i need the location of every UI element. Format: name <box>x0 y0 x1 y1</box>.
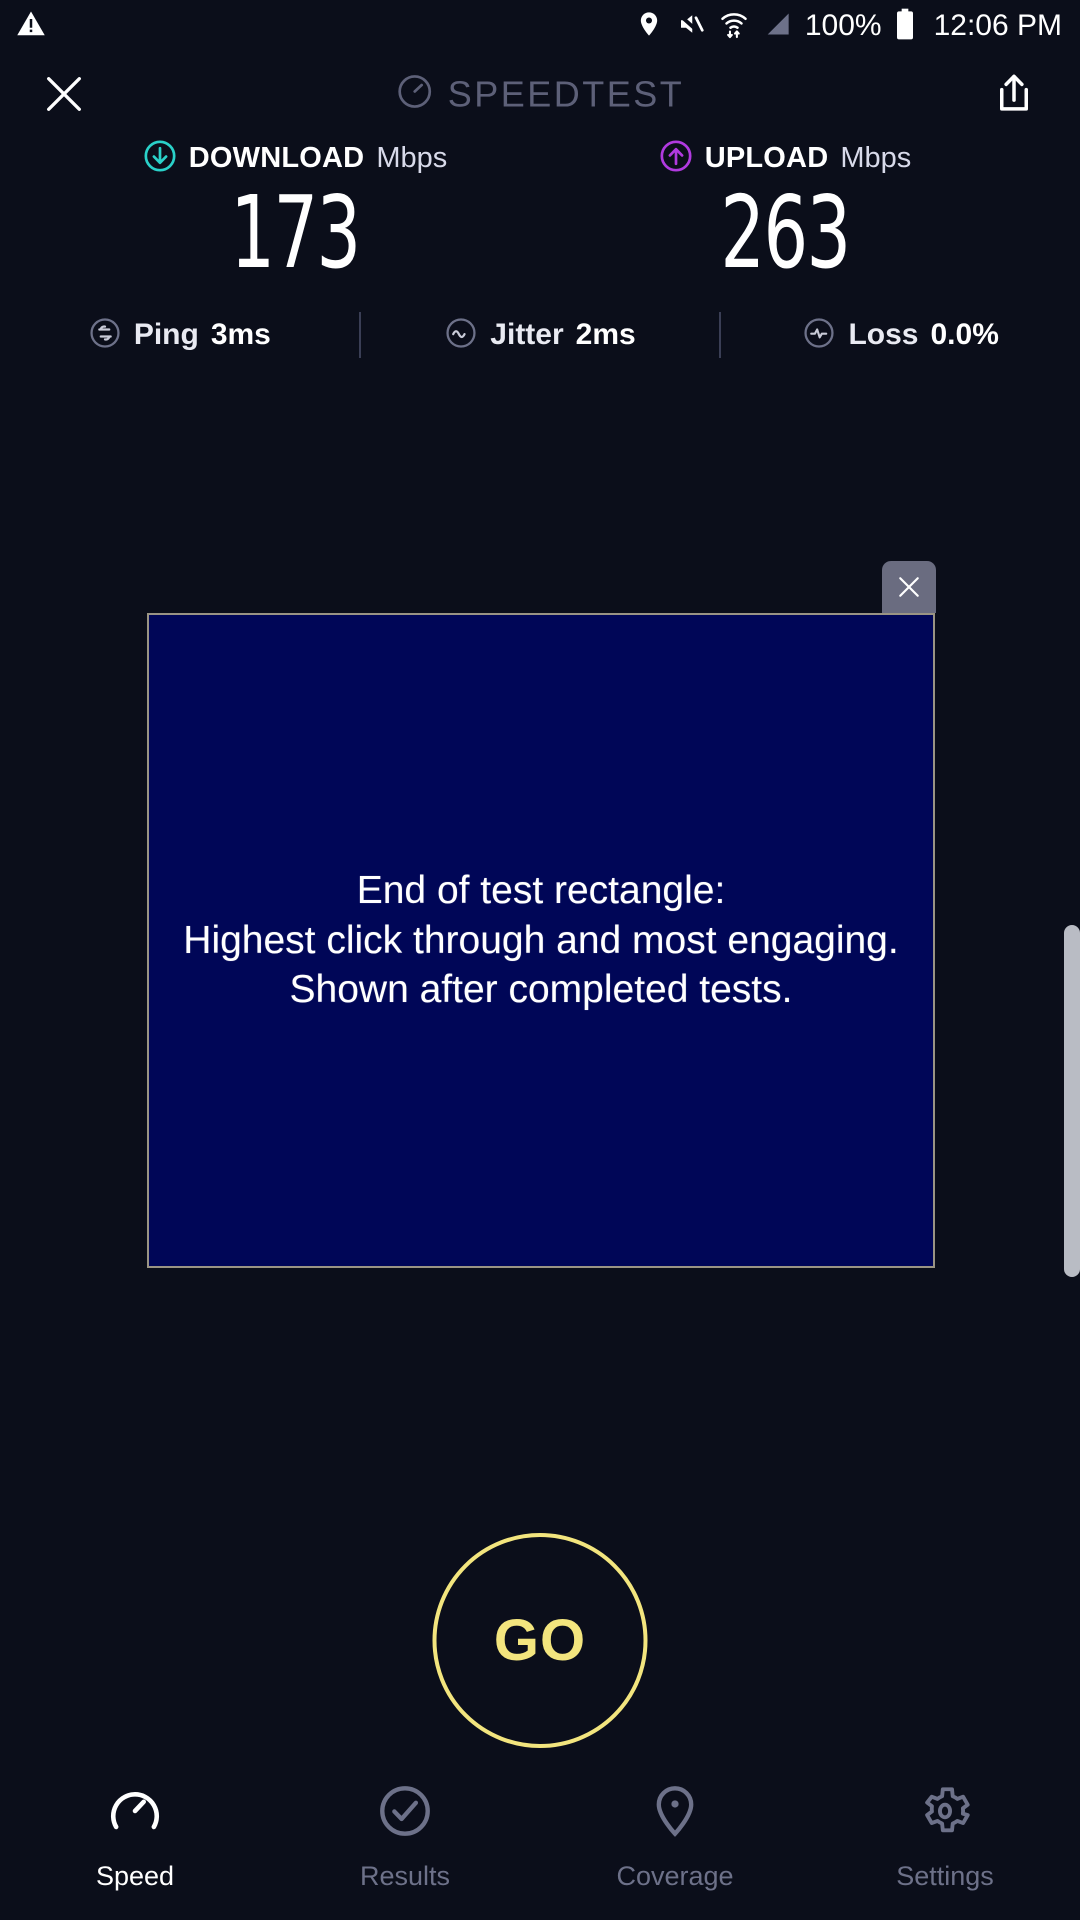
jitter-icon <box>444 316 478 355</box>
metric-jitter: Jitter 2ms <box>361 316 720 355</box>
speedometer-icon <box>396 73 434 116</box>
nav-label-speed: Speed <box>96 1861 174 1892</box>
nav-label-coverage: Coverage <box>616 1861 733 1892</box>
close-test-button[interactable] <box>36 66 92 122</box>
result-row: DOWNLOAD Mbps 173 UPLOAD Mbps 263 <box>0 136 1080 285</box>
speedometer-icon <box>106 1782 164 1845</box>
metric-loss: Loss 0.0% <box>721 316 1080 355</box>
share-button[interactable] <box>986 66 1042 122</box>
gear-icon <box>916 1782 974 1845</box>
download-result: DOWNLOAD Mbps 173 <box>105 136 485 285</box>
nav-label-settings: Settings <box>896 1861 994 1892</box>
cellular-signal-icon <box>762 10 792 43</box>
status-bar-left <box>16 9 46 44</box>
upload-result: UPLOAD Mbps 263 <box>595 136 975 285</box>
metric-ping: Ping 3ms <box>0 316 359 355</box>
page-title: SPEEDTEST <box>448 73 685 115</box>
map-pin-icon <box>646 1782 704 1845</box>
nav-item-results[interactable]: Results <box>270 1782 540 1892</box>
upload-arrow-icon <box>659 139 693 178</box>
result-summary: DOWNLOAD Mbps 173 UPLOAD Mbps 263 <box>0 136 1080 285</box>
ping-value: 3ms <box>211 318 271 352</box>
advertisement-banner[interactable]: End of test rectangle: Highest click thr… <box>147 613 935 1268</box>
ad-line-3: Shown after completed tests. <box>183 965 898 1015</box>
download-value: 173 <box>147 180 443 285</box>
nav-item-speed[interactable]: Speed <box>0 1782 270 1892</box>
upload-unit: Mbps <box>840 142 911 175</box>
status-bar-right: 100% 12:06 PM <box>635 8 1062 45</box>
status-bar: 100% 12:06 PM <box>0 0 1080 52</box>
bottom-navigation: Speed Results Coverage <box>0 1772 1080 1920</box>
loss-label: Loss <box>848 318 918 352</box>
app-header: SPEEDTEST <box>0 52 1080 136</box>
loss-icon <box>802 316 836 355</box>
battery-percent-label: 100% <box>805 9 882 43</box>
jitter-value: 2ms <box>576 318 636 352</box>
wifi-icon <box>719 9 749 44</box>
upload-value: 263 <box>637 180 933 285</box>
mute-icon <box>676 9 706 44</box>
connection-metrics: Ping 3ms Jitter 2ms Loss 0.0 <box>0 300 1080 370</box>
battery-full-icon <box>895 8 915 45</box>
status-bar-clock: 12:06 PM <box>934 9 1062 43</box>
go-button-label: GO <box>494 1607 586 1674</box>
app-title-group: SPEEDTEST <box>396 73 685 116</box>
nav-item-settings[interactable]: Settings <box>810 1782 1080 1892</box>
page-scrollbar[interactable] <box>1064 925 1080 1277</box>
speedtest-app-screen: 100% 12:06 PM SPEEDTEST <box>0 0 1080 1920</box>
ad-line-2: Highest click through and most engaging. <box>183 916 898 966</box>
download-unit: Mbps <box>376 142 447 175</box>
nav-label-results: Results <box>360 1861 450 1892</box>
download-label: DOWNLOAD <box>189 142 365 175</box>
check-circle-icon <box>376 1782 434 1845</box>
ad-line-1: End of test rectangle: <box>183 866 898 916</box>
jitter-label: Jitter <box>490 318 563 352</box>
loss-value: 0.0% <box>931 318 999 352</box>
warning-triangle-icon <box>16 9 46 44</box>
ping-label: Ping <box>134 318 199 352</box>
nav-item-coverage[interactable]: Coverage <box>540 1782 810 1892</box>
location-icon <box>635 9 663 44</box>
go-button[interactable]: GO <box>433 1533 648 1748</box>
ping-icon <box>88 316 122 355</box>
ad-text: End of test rectangle: Highest click thr… <box>183 866 898 1016</box>
download-arrow-icon <box>143 139 177 178</box>
upload-label: UPLOAD <box>705 142 829 175</box>
ad-close-button[interactable] <box>882 561 936 613</box>
